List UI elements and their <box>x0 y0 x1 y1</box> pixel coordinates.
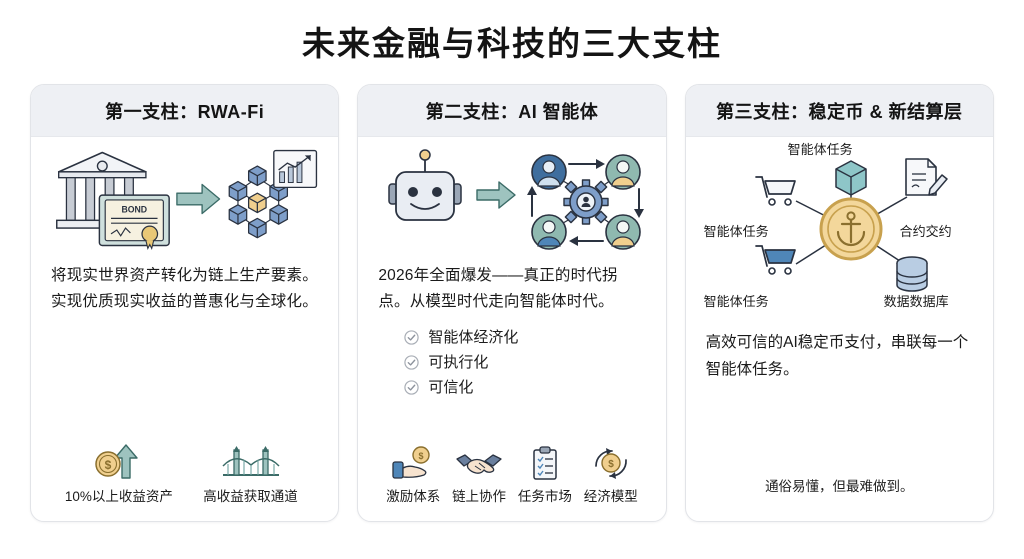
shopping-cart-icon <box>756 177 795 205</box>
hub-label-bottom-left: 智能体任务 <box>704 291 769 310</box>
checklist-item: 智能体经济化 <box>404 325 647 350</box>
agent-avatar-icon <box>606 215 640 249</box>
pillar-card-2-description: 2026年全面爆发——真正的时代拐点。从模型时代走向智能体时代。 <box>376 255 647 315</box>
document-pencil-icon <box>906 159 947 195</box>
infographic-page: 未来金融与科技的三大支柱 第一支柱：RWA-Fi <box>0 0 1024 559</box>
gear-icon <box>564 180 608 224</box>
footer-item-incentive: $ 激励体系 <box>380 444 446 505</box>
pillar-card-1-body: BOND <box>31 137 338 521</box>
arrow-right-icon <box>477 182 515 208</box>
pillar-cards-container: 第一支柱：RWA-Fi <box>0 70 1024 522</box>
footer-label: 激励体系 <box>386 485 440 505</box>
hub-label-left: 智能体任务 <box>704 221 769 240</box>
anchor-coin-icon <box>821 199 881 259</box>
pillar-card-3-body: 智能体任务 智能体任务 智能体任务 合约交约 数据数据库 高效可信的AI稳定币支… <box>686 137 993 521</box>
shopping-cart-icon <box>756 246 795 274</box>
pillar-card-2-footer: $ 激励体系 <box>376 444 647 521</box>
handshake-icon <box>455 444 503 480</box>
footer-item-collaboration: 链上协作 <box>446 444 512 505</box>
checklist-item: 可执行化 <box>404 350 647 375</box>
agent-avatar-icon <box>532 155 566 189</box>
pillar-card-1: 第一支柱：RWA-Fi <box>30 84 339 522</box>
bond-certificate-icon: BOND <box>99 195 169 248</box>
pillar-card-3-note: 通俗易懂，但最难做到。 <box>704 475 975 521</box>
footer-item-yield-channel: 高收益获取通道 <box>185 444 317 505</box>
bridge-icon <box>220 444 282 480</box>
pillar-card-2-header: 第二支柱：AI 智能体 <box>358 85 665 137</box>
robot-to-agent-network-illustration <box>376 137 647 255</box>
svg-text:$: $ <box>608 459 614 470</box>
pillar-card-3-header: 第三支柱：稳定币 & 新结算层 <box>686 85 993 137</box>
pillar-card-3-description: 高效可信的AI稳定币支付，串联每一个智能体任务。 <box>704 325 975 383</box>
pillar-card-1-header: 第一支柱：RWA-Fi <box>31 85 338 137</box>
database-icon <box>897 257 927 291</box>
pillar-card-3: 第三支柱：稳定币 & 新结算层 <box>685 84 994 522</box>
pillar-card-1-footer: $ 10%以上收益资产 <box>49 444 320 521</box>
footer-label: 任务市场 <box>518 485 572 505</box>
coin-cycle-icon: $ <box>590 444 632 480</box>
agent-avatar-icon <box>606 155 640 189</box>
footer-item-task-market: 任务市场 <box>512 444 578 505</box>
hub-label-top: 智能体任务 <box>788 139 853 158</box>
agent-avatar-icon <box>532 215 566 249</box>
checklist-label: 可执行化 <box>428 350 488 375</box>
page-title: 未来金融与科技的三大支柱 <box>0 0 1024 70</box>
arrow-right-icon <box>177 184 220 213</box>
hub-label-right: 合约交约 <box>900 221 952 240</box>
footer-item-economic-model: $ 经济模型 <box>578 444 644 505</box>
footer-label: 经济模型 <box>584 485 638 505</box>
robot-head-icon <box>389 150 461 220</box>
footer-label: 10%以上收益资产 <box>65 485 173 505</box>
checklist-label: 可信化 <box>428 375 473 400</box>
svg-text:$: $ <box>104 458 111 472</box>
check-circle-icon <box>404 380 419 395</box>
pillar-card-2: 第二支柱：AI 智能体 <box>357 84 666 522</box>
footer-label: 链上协作 <box>452 485 506 505</box>
clipboard-tasks-icon <box>525 444 565 480</box>
pillar-card-2-checklist: 智能体经济化 可执行化 可信化 <box>376 325 647 400</box>
cube-icon <box>836 161 866 195</box>
footer-label: 高收益获取通道 <box>203 485 298 505</box>
robot-agent-svg <box>377 144 647 254</box>
checklist-label: 智能体经济化 <box>428 325 518 350</box>
agent-network-icon <box>527 155 644 249</box>
bank-to-blockchain-illustration: BOND <box>49 137 320 255</box>
stablecoin-hub-diagram: 智能体任务 智能体任务 智能体任务 合约交约 数据数据库 <box>704 139 975 325</box>
pillar-card-1-description: 将现实世界资产转化为链上生产要素。实现优质现实收益的普惠化与全球化。 <box>49 255 320 315</box>
coin-up-arrow-icon: $ <box>92 444 146 480</box>
chart-panel-icon <box>274 151 317 188</box>
bank-to-blockchain-svg: BOND <box>49 143 320 255</box>
svg-text:$: $ <box>419 451 424 461</box>
pillar-card-2-body: 2026年全面爆发——真正的时代拐点。从模型时代走向智能体时代。 智能体经济化 <box>358 137 665 521</box>
check-circle-icon <box>404 355 419 370</box>
hand-coin-icon: $ <box>389 444 437 480</box>
check-circle-icon <box>404 330 419 345</box>
hub-label-bottom-right: 数据数据库 <box>884 291 949 310</box>
bond-label: BOND <box>121 205 147 215</box>
footer-item-yield-assets: $ 10%以上收益资产 <box>53 444 185 505</box>
checklist-item: 可信化 <box>404 375 647 400</box>
